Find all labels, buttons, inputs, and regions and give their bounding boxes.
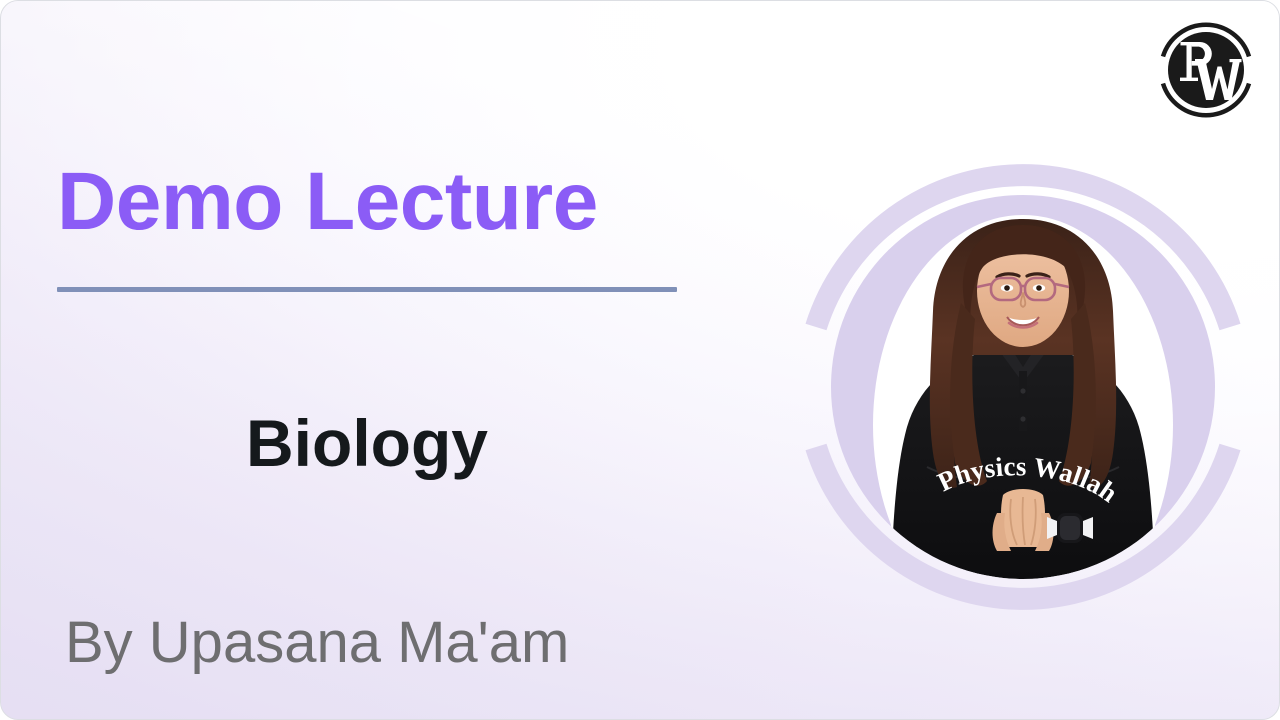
pw-logo [1151,15,1261,125]
slide-title: Demo Lecture [57,161,598,243]
subject-heading: Biology [57,409,677,478]
instructor-photo: Physics Wallah [831,195,1215,579]
title-divider-rule [57,287,677,292]
text-column: Demo Lecture Biology By Upasana Ma'am [1,1,741,720]
instructor-photo-illustration: Physics Wallah [831,195,1215,579]
lecture-slide-card: Demo Lecture Biology By Upasana Ma'am [0,0,1280,720]
instructor-byline: By Upasana Ma'am [65,613,569,674]
pw-logo-icon [1151,15,1261,125]
instructor-portrait: Physics Wallah [795,159,1251,615]
